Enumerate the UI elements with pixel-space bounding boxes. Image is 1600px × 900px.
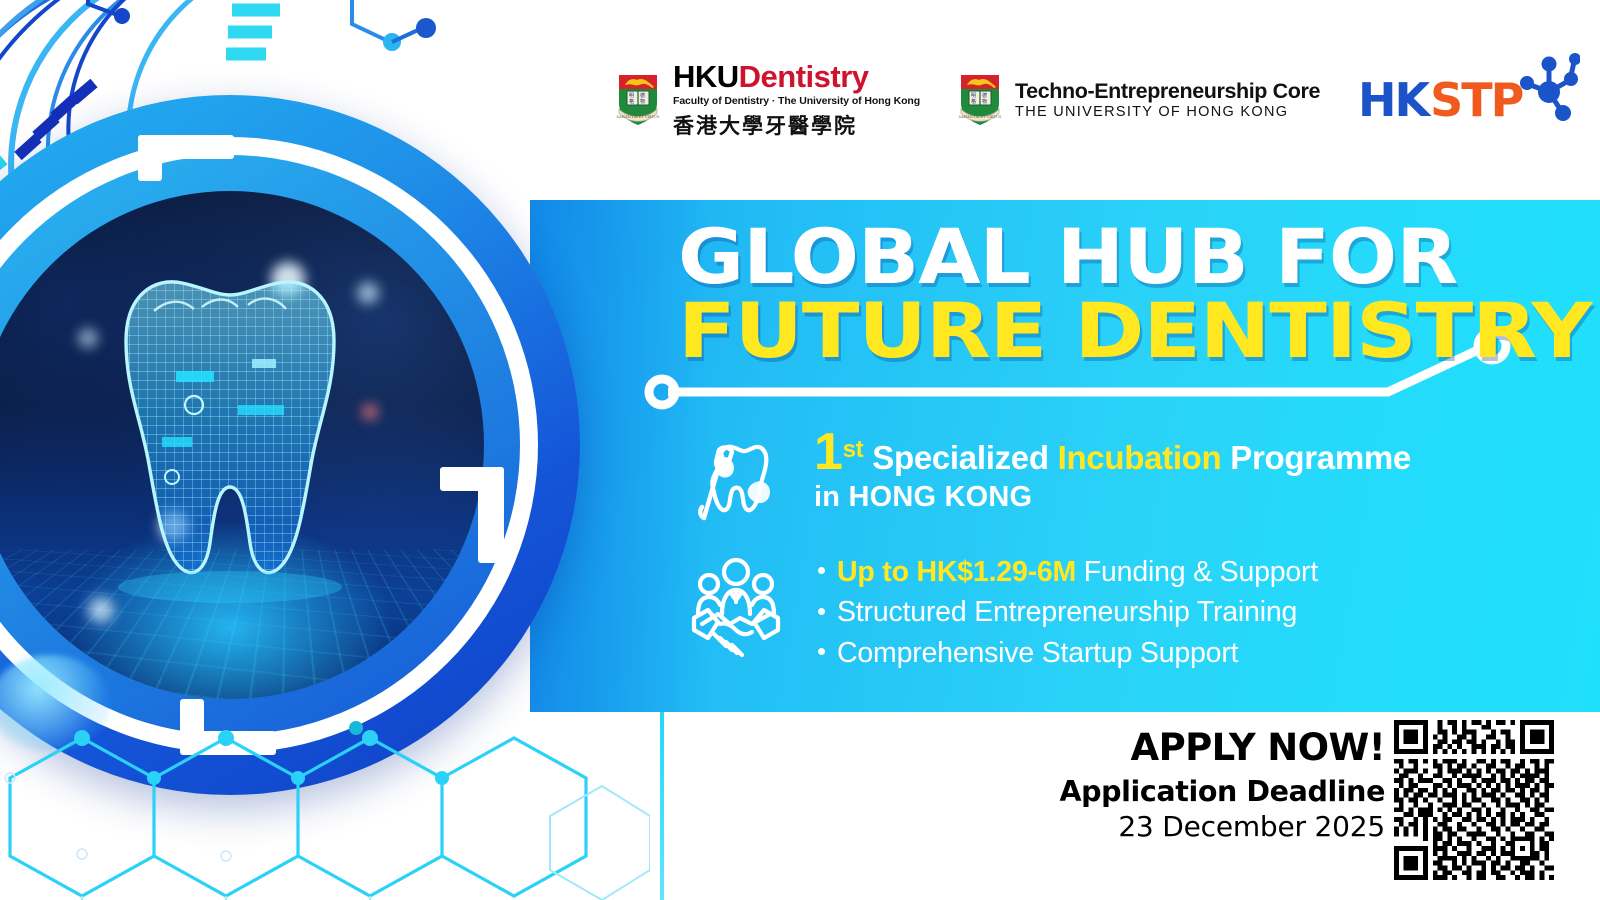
hku-wordmark-part2: Dentistry: [739, 59, 869, 94]
svg-text:SAPIENTIA ET VIRTUS: SAPIENTIA ET VIRTUS: [959, 115, 1002, 119]
bullet-text: Comprehensive Startup Support: [837, 637, 1238, 669]
word-programme: Programme: [1230, 439, 1411, 476]
feature-first-line-1: 1st Specialized Incubation Programme: [814, 432, 1411, 477]
list-item: Up to HK$1.29-6M Funding & Support: [818, 552, 1318, 592]
svg-text:物: 物: [982, 98, 987, 105]
bullet-text: Structured Entrepreneurship Training: [837, 596, 1297, 628]
wireframe-tooth-icon: [0, 191, 484, 699]
bullet-text: Funding & Support: [1076, 556, 1318, 588]
team-handshake-icon: [684, 552, 788, 667]
logo-hkstp: HKSTP: [1358, 50, 1580, 150]
feature-first-programme: 1st Specialized Incubation Programme in …: [690, 432, 1411, 533]
svg-text:格: 格: [971, 98, 976, 105]
line2-prefix: in: [814, 481, 840, 513]
headline-line-1: GLOBAL HUB FOR: [678, 222, 1579, 292]
apply-block: APPLY NOW! Application Deadline 23 Decem…: [1040, 726, 1385, 843]
logo-bar: 明德 格物 SAPIENTIA ET VIRTUS HKUDentistry F…: [612, 52, 1580, 148]
hku-dentistry-wordmark: HKUDentistry: [673, 61, 920, 92]
ring-bracket-bottom-stem: [180, 699, 204, 749]
list-item: Structured Entrepreneurship Training: [818, 592, 1318, 632]
svg-text:格: 格: [629, 98, 634, 105]
logo-hku-dentistry: 明德 格物 SAPIENTIA ET VIRTUS HKUDentistry F…: [612, 61, 920, 140]
application-deadline-date: 23 December 2025: [1040, 810, 1385, 843]
promo-banner: 明德 格物 SAPIENTIA ET VIRTUS HKUDentistry F…: [0, 0, 1600, 900]
word-incubation: Incubation: [1058, 439, 1222, 476]
bullet-dot-icon: [818, 648, 825, 655]
svg-text:物: 物: [640, 98, 645, 105]
svg-text:德: 德: [982, 92, 987, 99]
tooth-toothbrush-icon: [690, 432, 786, 533]
headline-line-2: FUTURE DENTISTRY: [678, 296, 1600, 366]
line2-place: HONG KONG: [848, 481, 1032, 513]
rank-number: 1: [814, 423, 843, 481]
hero-photo-tooth: [0, 191, 484, 699]
apply-now-cta: APPLY NOW!: [1040, 726, 1385, 769]
rank-suffix: st: [843, 436, 864, 463]
application-qr-code[interactable]: [1394, 720, 1554, 880]
panel-vertical-accent-line: [660, 712, 664, 900]
logo-tec: 明德 格物 SAPIENTIA ET VIRTUS Techno-Entrepr…: [954, 69, 1320, 131]
tec-title: Techno-Entrepreneurship Core: [1015, 80, 1320, 103]
svg-text:德: 德: [640, 92, 645, 99]
hku-dentistry-subtitle: Faculty of Dentistry · The University of…: [673, 95, 920, 107]
feature-benefits: Up to HK$1.29-6M Funding & Support Struc…: [684, 552, 1318, 673]
feature-first-line-2: in HONG KONG: [814, 481, 1411, 514]
hero-circle: [0, 95, 660, 795]
hkstp-wordmark-hk: HK: [1358, 73, 1428, 127]
word-specialized: Specialized: [872, 439, 1048, 476]
benefits-list: Up to HK$1.29-6M Funding & Support Struc…: [818, 552, 1318, 673]
ring-bracket-top-stem: [138, 135, 162, 181]
list-item: Comprehensive Startup Support: [818, 633, 1318, 673]
bullet-dot-icon: [818, 608, 825, 615]
svg-text:SAPIENTIA ET VIRTUS: SAPIENTIA ET VIRTUS: [617, 115, 660, 119]
molecule-node-icon: [1518, 50, 1580, 132]
hku-crest-shield-icon: 明德 格物 SAPIENTIA ET VIRTUS: [954, 69, 1006, 131]
hkstp-wordmark-stp: STP: [1430, 73, 1522, 127]
tec-subtitle: THE UNIVERSITY OF HONG KONG: [1015, 104, 1320, 120]
headline-group: GLOBAL HUB FOR FUTURE DENTISTRY: [678, 222, 1528, 366]
hku-crest-shield-icon: 明德 格物 SAPIENTIA ET VIRTUS: [612, 69, 664, 131]
bullet-highlight: Up to HK$1.29-6M: [837, 556, 1076, 588]
application-deadline-label: Application Deadline: [1040, 775, 1385, 808]
hku-wordmark-part1: HKU: [673, 59, 739, 94]
ring-bracket-right-stem: [440, 467, 504, 491]
hku-dentistry-chinese: 香港大學牙醫學院: [673, 110, 920, 140]
bullet-dot-icon: [818, 567, 825, 574]
